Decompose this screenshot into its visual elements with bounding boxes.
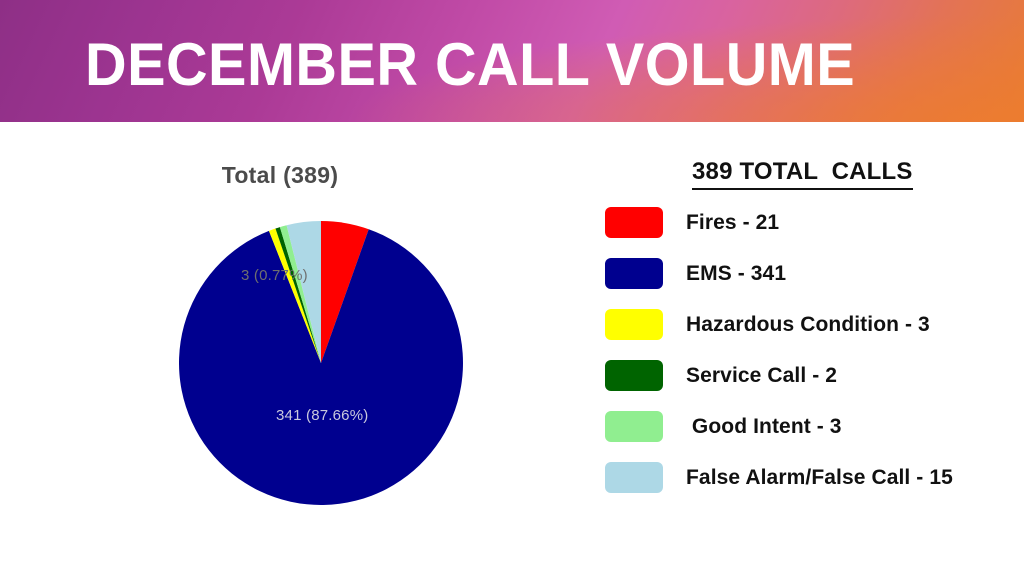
legend-item-label: Fires - 21 <box>686 207 779 238</box>
legend-color-swatch <box>605 207 663 238</box>
legend-item[interactable]: Hazardous Condition - 3 <box>560 302 1024 353</box>
legend-panel: 389 TOTAL CALLS Fires - 21EMS - 341Hazar… <box>560 122 1024 576</box>
chart-panel: Total (389) 3 (0.77%) 341 (87.66%) <box>0 122 560 576</box>
pie-chart-svg <box>179 221 463 505</box>
legend-item[interactable]: False Alarm/False Call - 15 <box>560 455 1024 506</box>
legend-item[interactable]: Fires - 21 <box>560 200 1024 251</box>
legend-item-label: Service Call - 2 <box>686 360 837 391</box>
legend-item-label: Good Intent - 3 <box>686 411 842 442</box>
legend-color-swatch <box>605 258 663 289</box>
legend-list: Fires - 21EMS - 341Hazardous Condition -… <box>560 200 1024 506</box>
legend-color-swatch <box>605 360 663 391</box>
page-title: DECEMBER CALL VOLUME <box>85 27 911 103</box>
pie-chart-title: Total (389) <box>0 162 560 189</box>
legend-item[interactable]: EMS - 341 <box>560 251 1024 302</box>
legend-color-swatch <box>605 462 663 493</box>
pie-slice-group <box>179 221 463 505</box>
legend-item-label: False Alarm/False Call - 15 <box>686 462 953 493</box>
legend-color-swatch <box>605 411 663 442</box>
legend-color-swatch <box>605 309 663 340</box>
legend-heading: 389 TOTAL CALLS <box>692 158 913 190</box>
legend-item[interactable]: Good Intent - 3 <box>560 404 1024 455</box>
pie-chart: 3 (0.77%) 341 (87.66%) <box>179 221 463 505</box>
legend-item-label: EMS - 341 <box>686 258 786 289</box>
legend-item-label: Hazardous Condition - 3 <box>686 309 930 340</box>
legend-item[interactable]: Service Call - 2 <box>560 353 1024 404</box>
header-banner: DECEMBER CALL VOLUME <box>0 0 1024 122</box>
